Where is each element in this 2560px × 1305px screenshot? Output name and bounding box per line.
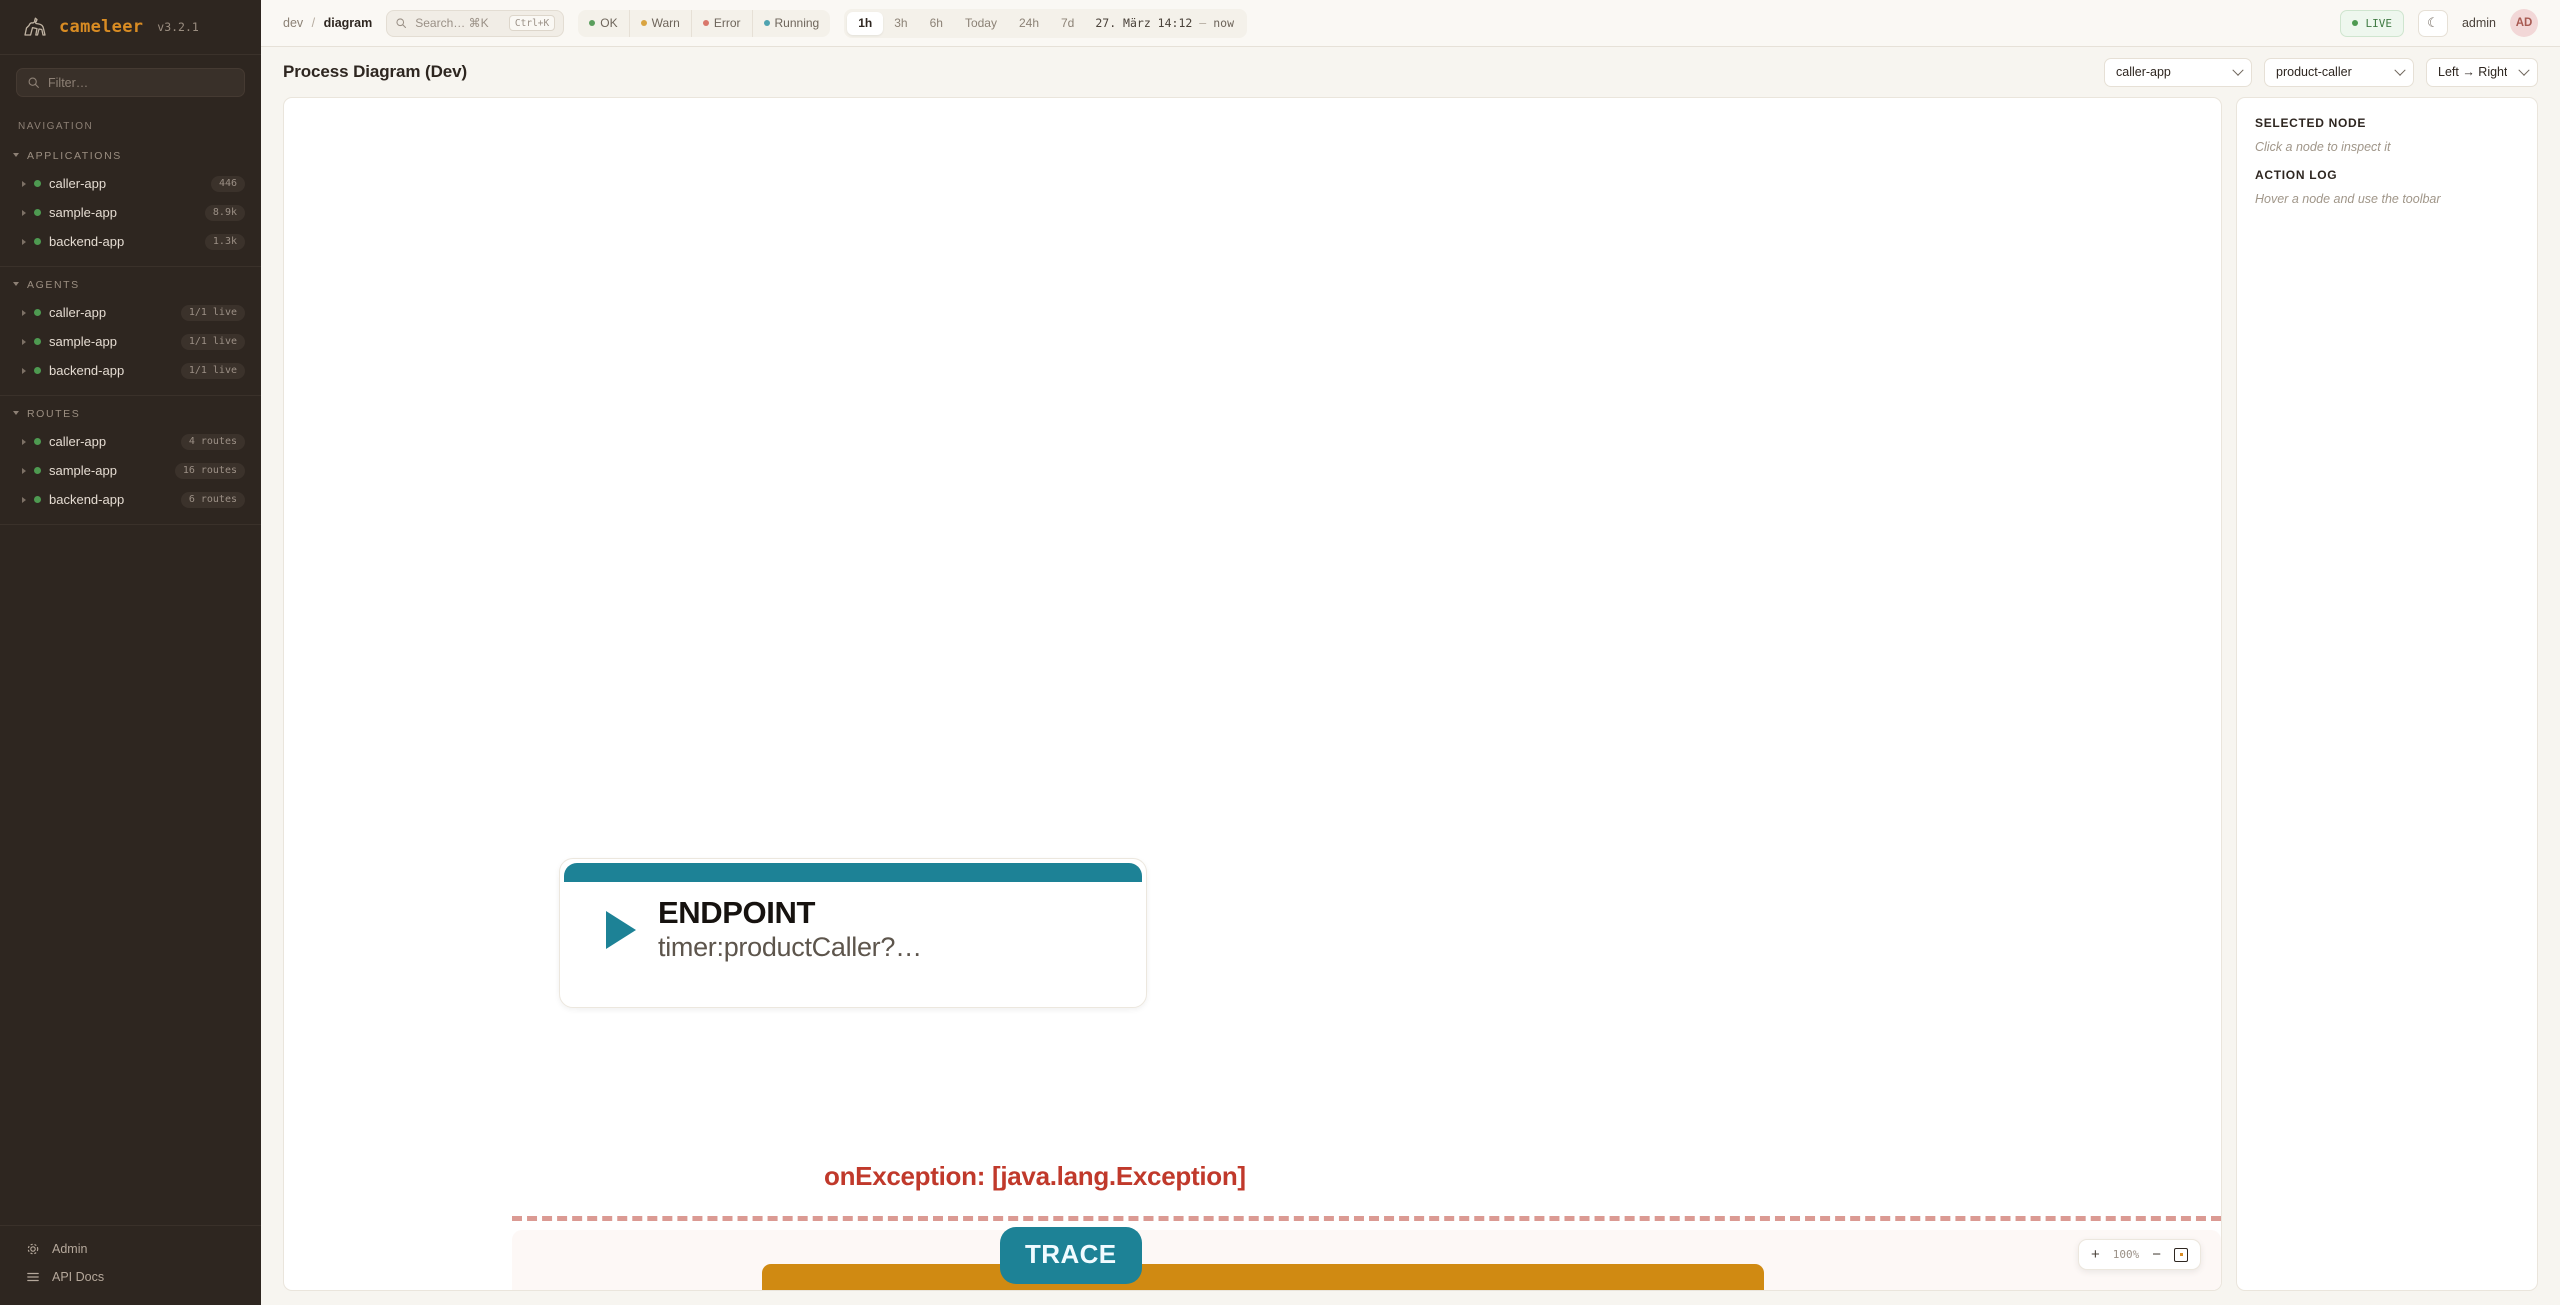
group-header-routes[interactable]: ROUTES xyxy=(0,396,261,427)
chevron-right-icon xyxy=(22,497,26,503)
item-badge: 1/1 live xyxy=(181,363,245,379)
group-header-agents[interactable]: AGENTS xyxy=(0,267,261,298)
direction-select[interactable]: Left → Right xyxy=(2426,58,2538,87)
sidebar-group-agents: AGENTS caller-app 1/1 live sample-app 1/… xyxy=(0,267,261,396)
time-range-7d[interactable]: 7d xyxy=(1050,12,1085,35)
route-select-wrap: product-caller xyxy=(2264,58,2414,87)
item-label: backend-app xyxy=(49,234,197,249)
sidebar-item-routes-sample-app[interactable]: sample-app 16 routes xyxy=(0,456,261,485)
zoom-out-button[interactable]: − xyxy=(2152,1247,2161,1262)
chevron-right-icon xyxy=(22,239,26,245)
sidebar-item-agents-caller-app[interactable]: caller-app 1/1 live xyxy=(0,298,261,327)
time-range-from: 27. März 14:12 xyxy=(1095,16,1192,30)
app-select[interactable]: caller-app xyxy=(2104,58,2252,87)
sidebar-filter-input[interactable] xyxy=(48,76,234,90)
exception-boundary-line xyxy=(512,1216,2221,1221)
item-label: sample-app xyxy=(49,205,197,220)
item-badge: 8.9k xyxy=(205,205,245,221)
status-dot xyxy=(34,338,41,345)
avatar[interactable]: AD xyxy=(2510,9,2538,37)
menu-icon xyxy=(26,1270,40,1284)
status-pill-ok[interactable]: OK xyxy=(578,10,629,37)
sidebar-filter-wrap xyxy=(0,55,261,107)
chevron-right-icon xyxy=(22,468,26,474)
nav-section-title: NAVIGATION xyxy=(0,107,261,138)
breadcrumb-root[interactable]: dev xyxy=(283,16,303,30)
action-log-hint: Hover a node and use the toolbar xyxy=(2255,192,2519,206)
sidebar-footer-label: API Docs xyxy=(52,1270,104,1284)
action-log-title: ACTION LOG xyxy=(2255,168,2519,182)
item-label: caller-app xyxy=(49,176,203,191)
item-badge: 1.3k xyxy=(205,234,245,250)
chevron-right-icon xyxy=(22,210,26,216)
brand-name: cameleer xyxy=(59,17,143,37)
status-dot xyxy=(34,209,41,216)
status-dot xyxy=(34,367,41,374)
group-label: APPLICATIONS xyxy=(27,150,122,162)
time-range-dash: — xyxy=(1199,16,1206,30)
time-range-display[interactable]: 27. März 14:12 — now xyxy=(1085,16,1244,30)
sidebar-footer-label: Admin xyxy=(52,1242,87,1256)
sidebar: cameleer v3.2.1 NAVIGATION APPLICATIONS xyxy=(0,0,261,1305)
status-dot xyxy=(34,438,41,445)
brand-version: v3.2.1 xyxy=(157,20,199,34)
zoom-controls: + 100% − xyxy=(2078,1239,2201,1270)
status-pill-label: OK xyxy=(600,16,617,30)
status-filter-group: OK Warn Error Running xyxy=(578,10,830,37)
direction-select-wrap: Left → Right xyxy=(2426,58,2538,87)
live-label: LIVE xyxy=(2365,17,2392,30)
item-label: sample-app xyxy=(49,463,167,478)
time-range-to: now xyxy=(1213,16,1234,30)
item-badge: 16 routes xyxy=(175,463,245,479)
exception-handler-label: onException: [java.lang.Exception] xyxy=(824,1161,1246,1192)
sidebar-footer: Admin API Docs xyxy=(0,1225,261,1305)
chevron-right-icon xyxy=(22,339,26,345)
time-range-selector: 1h 3h 6h Today 24h 7d 27. März 14:12 — n… xyxy=(844,9,1247,38)
sidebar-item-agents-sample-app[interactable]: sample-app 1/1 live xyxy=(0,327,261,356)
page-title: Process Diagram (Dev) xyxy=(283,62,467,82)
sidebar-filter[interactable] xyxy=(16,68,245,97)
camel-icon xyxy=(22,16,48,38)
sidebar-item-applications-backend-app[interactable]: backend-app 1.3k xyxy=(0,227,261,256)
search-shortcut-kbd: Ctrl+K xyxy=(509,15,555,31)
item-label: caller-app xyxy=(49,305,173,320)
app-select-wrap: caller-app xyxy=(2104,58,2252,87)
status-dot xyxy=(34,238,41,245)
status-pill-label: Error xyxy=(714,16,741,30)
status-dot-warn xyxy=(641,20,647,26)
inspector-panel: SELECTED NODE Click a node to inspect it… xyxy=(2236,97,2538,1291)
selected-node-hint: Click a node to inspect it xyxy=(2255,140,2519,154)
chevron-down-icon xyxy=(13,411,19,415)
item-label: caller-app xyxy=(49,434,173,449)
status-dot-running xyxy=(764,20,770,26)
time-range-1h[interactable]: 1h xyxy=(847,12,883,35)
chevron-down-icon xyxy=(13,153,19,157)
status-dot xyxy=(34,496,41,503)
status-pill-warn[interactable]: Warn xyxy=(630,10,692,37)
sidebar-item-routes-caller-app[interactable]: caller-app 4 routes xyxy=(0,427,261,456)
zoom-level-label: 100% xyxy=(2113,1248,2140,1261)
breadcrumb-current: diagram xyxy=(324,16,373,30)
status-pill-error[interactable]: Error xyxy=(692,10,753,37)
item-label: sample-app xyxy=(49,334,173,349)
selected-node-title: SELECTED NODE xyxy=(2255,116,2519,130)
search-input[interactable]: Search… ⌘K Ctrl+K xyxy=(386,10,564,37)
brand-header[interactable]: cameleer v3.2.1 xyxy=(0,0,261,55)
sidebar-item-admin[interactable]: Admin xyxy=(0,1235,261,1263)
chevron-down-icon xyxy=(13,282,19,286)
breadcrumb-separator: / xyxy=(312,16,315,30)
app-root: cameleer v3.2.1 NAVIGATION APPLICATIONS xyxy=(0,0,2560,1305)
theme-toggle-button[interactable]: ☾ xyxy=(2418,10,2448,37)
item-badge: 4 routes xyxy=(181,434,245,450)
sidebar-group-applications: APPLICATIONS caller-app 446 sample-app 8… xyxy=(0,138,261,267)
item-badge: 1/1 live xyxy=(181,334,245,350)
diagram-node-endpoint[interactable]: ENDPOINT timer:productCaller?… xyxy=(559,858,1147,1008)
group-label: AGENTS xyxy=(27,279,80,291)
search-icon xyxy=(27,76,40,89)
sidebar-item-routes-backend-app[interactable]: backend-app 6 routes xyxy=(0,485,261,514)
main-area: dev / diagram Search… ⌘K Ctrl+K OK xyxy=(261,0,2560,1305)
chevron-right-icon xyxy=(22,368,26,374)
item-badge: 1/1 live xyxy=(181,305,245,321)
search-icon xyxy=(395,17,407,29)
item-label: backend-app xyxy=(49,492,173,507)
sidebar-item-api-docs[interactable]: API Docs xyxy=(0,1263,261,1291)
chevron-right-icon xyxy=(22,310,26,316)
status-dot xyxy=(34,309,41,316)
live-status-chip[interactable]: LIVE xyxy=(2340,10,2404,37)
time-range-6h[interactable]: 6h xyxy=(919,12,954,35)
sidebar-group-routes: ROUTES caller-app 4 routes sample-app 16… xyxy=(0,396,261,525)
node-uri-label: timer:productCaller?… xyxy=(658,931,922,963)
status-dot xyxy=(34,467,41,474)
route-segment-bar[interactable] xyxy=(1204,1264,1764,1290)
play-icon xyxy=(606,911,636,949)
zoom-in-button[interactable]: + xyxy=(2091,1247,2100,1262)
item-badge: 446 xyxy=(211,176,245,192)
trace-chip[interactable]: TRACE xyxy=(1000,1227,1142,1284)
diagram-canvas[interactable]: ENDPOINT timer:productCaller?… onExcepti… xyxy=(283,97,2222,1291)
status-dot xyxy=(34,180,41,187)
status-pill-running[interactable]: Running xyxy=(753,10,831,37)
node-text: ENDPOINT timer:productCaller?… xyxy=(658,896,922,963)
breadcrumb[interactable]: dev / diagram xyxy=(283,16,372,30)
gear-icon xyxy=(26,1242,40,1256)
node-accent-bar xyxy=(564,863,1142,882)
time-range-24h[interactable]: 24h xyxy=(1008,12,1050,35)
user-name: admin xyxy=(2462,16,2496,30)
topbar: dev / diagram Search… ⌘K Ctrl+K OK xyxy=(261,0,2560,47)
node-kind-label: ENDPOINT xyxy=(658,896,922,931)
item-badge: 6 routes xyxy=(181,492,245,508)
group-label: ROUTES xyxy=(27,408,80,420)
chevron-right-icon xyxy=(22,439,26,445)
item-label: backend-app xyxy=(49,363,173,378)
time-range-today[interactable]: Today xyxy=(954,12,1008,35)
node-content: ENDPOINT timer:productCaller?… xyxy=(560,882,1146,963)
sidebar-item-applications-sample-app[interactable]: sample-app 8.9k xyxy=(0,198,261,227)
group-header-applications[interactable]: APPLICATIONS xyxy=(0,138,261,169)
sidebar-item-agents-backend-app[interactable]: backend-app 1/1 live xyxy=(0,356,261,385)
content-body: ENDPOINT timer:productCaller?… onExcepti… xyxy=(261,97,2560,1305)
time-range-3h[interactable]: 3h xyxy=(883,12,918,35)
moon-icon: ☾ xyxy=(2427,15,2439,31)
status-pill-label: Warn xyxy=(652,16,680,30)
page-header: Process Diagram (Dev) caller-app product… xyxy=(261,47,2560,97)
status-pill-label: Running xyxy=(775,16,820,30)
search-placeholder: Search… ⌘K xyxy=(415,16,501,30)
live-dot xyxy=(2352,20,2358,26)
route-select[interactable]: product-caller xyxy=(2264,58,2414,87)
chevron-right-icon xyxy=(22,181,26,187)
sidebar-item-applications-caller-app[interactable]: caller-app 446 xyxy=(0,169,261,198)
status-dot-error xyxy=(703,20,709,26)
status-dot-ok xyxy=(589,20,595,26)
fit-to-screen-icon[interactable] xyxy=(2174,1248,2188,1262)
